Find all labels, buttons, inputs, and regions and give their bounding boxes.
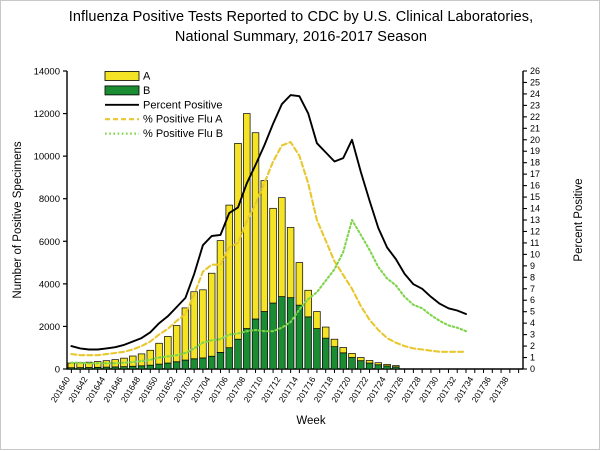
legend-swatch-a bbox=[105, 72, 139, 81]
y-tick-label-right: 8 bbox=[530, 272, 535, 282]
bar-flu-a bbox=[322, 327, 329, 338]
y-tick-label-right: 26 bbox=[530, 66, 540, 76]
chart-plot: 0200040006000800010000120001400001234567… bbox=[1, 1, 600, 451]
bar-flu-a bbox=[366, 360, 373, 363]
legend-label: % Positive Flu B bbox=[143, 128, 223, 140]
y-tick-label-right: 15 bbox=[530, 192, 540, 202]
y-tick-label-right: 12 bbox=[530, 226, 540, 236]
y-tick-label-right: 4 bbox=[530, 318, 535, 328]
y-tick-label-left: 8000 bbox=[39, 194, 60, 205]
bar-flu-a bbox=[226, 205, 233, 348]
bar-flu-a bbox=[331, 339, 338, 346]
bar-flu-a bbox=[305, 290, 312, 317]
bar-flu-b bbox=[165, 363, 172, 369]
chart-frame: Influenza Positive Tests Reported to CDC… bbox=[0, 0, 600, 450]
bar-flu-a bbox=[235, 143, 242, 339]
bar-flu-b bbox=[235, 339, 242, 369]
legend-label: A bbox=[143, 71, 151, 83]
y-tick-label-right: 25 bbox=[530, 77, 540, 87]
bar-flu-a bbox=[357, 358, 364, 361]
y-tick-label-left: 10000 bbox=[34, 152, 60, 163]
bar-flu-b bbox=[357, 361, 364, 369]
bar-flu-b bbox=[375, 365, 382, 369]
y-tick-label-right: 19 bbox=[530, 146, 540, 156]
y-tick-label-right: 6 bbox=[530, 295, 535, 305]
y-tick-label-right: 5 bbox=[530, 307, 535, 317]
y-tick-label-right: 11 bbox=[530, 238, 539, 248]
y-tick-label-right: 16 bbox=[530, 181, 540, 191]
y-tick-label-right: 14 bbox=[530, 204, 540, 214]
bar-flu-b bbox=[366, 363, 373, 369]
bar-flu-b bbox=[384, 366, 391, 369]
bar-flu-a bbox=[165, 336, 172, 363]
y-tick-label-right: 17 bbox=[530, 169, 540, 179]
bar-flu-b bbox=[173, 362, 180, 369]
y-tick-label-left: 0 bbox=[55, 365, 60, 376]
y-tick-label-right: 24 bbox=[530, 89, 540, 99]
bar-flu-a bbox=[375, 363, 382, 365]
y-tick-label-left: 6000 bbox=[39, 237, 60, 248]
bar-flu-b bbox=[331, 347, 338, 369]
y-axis-right-title: Percent Positive bbox=[573, 178, 585, 261]
y-tick-label-right: 22 bbox=[530, 112, 540, 122]
bar-flu-b bbox=[191, 359, 198, 369]
y-tick-label-right: 10 bbox=[530, 249, 540, 259]
bar-flu-a bbox=[208, 273, 215, 356]
legend-label: % Positive Flu A bbox=[143, 114, 223, 126]
bar-flu-b bbox=[156, 364, 163, 369]
bar-flu-b bbox=[147, 365, 154, 369]
bar-flu-a bbox=[261, 181, 268, 312]
bar-flu-b bbox=[270, 303, 277, 369]
bar-flu-b bbox=[182, 360, 189, 369]
legend-label: B bbox=[143, 85, 150, 97]
bar-flu-a bbox=[279, 198, 286, 297]
bar-flu-a bbox=[156, 343, 163, 364]
bar-flu-b bbox=[138, 366, 145, 369]
y-tick-label-left: 4000 bbox=[39, 279, 60, 290]
bar-flu-a bbox=[314, 312, 321, 329]
bar-flu-a bbox=[147, 350, 154, 365]
y-tick-label-right: 3 bbox=[530, 330, 535, 340]
bar-flu-b bbox=[226, 348, 233, 369]
y-tick-label-right: 2 bbox=[530, 341, 535, 351]
bar-flu-b bbox=[349, 358, 356, 369]
bar-flu-b bbox=[340, 353, 347, 369]
bar-flu-b bbox=[217, 352, 224, 369]
bar-flu-b bbox=[208, 356, 215, 369]
bar-flu-a bbox=[384, 364, 391, 366]
bar-flu-a bbox=[270, 208, 277, 303]
bar-flu-a bbox=[287, 227, 294, 297]
y-tick-label-right: 13 bbox=[530, 215, 540, 225]
bar-flu-b bbox=[261, 312, 268, 369]
bar-flu-a bbox=[173, 326, 180, 362]
y-tick-label-right: 7 bbox=[530, 284, 535, 294]
bar-flu-a bbox=[217, 241, 224, 353]
y-tick-label-left: 12000 bbox=[34, 109, 60, 120]
bar-flu-a bbox=[393, 366, 400, 367]
y-tick-label-right: 20 bbox=[530, 135, 540, 145]
legend-label: Percent Positive bbox=[143, 99, 222, 111]
y-tick-label-left: 2000 bbox=[39, 322, 60, 333]
line-pct-flu-a bbox=[71, 142, 466, 355]
x-axis-title: Week bbox=[296, 415, 325, 427]
bar-flu-b bbox=[322, 338, 329, 369]
bar-flu-b bbox=[279, 297, 286, 369]
bar-flu-a bbox=[349, 353, 356, 357]
y-tick-label-right: 1 bbox=[530, 353, 535, 363]
bar-flu-a bbox=[296, 263, 303, 306]
bar-flu-b bbox=[121, 367, 128, 369]
bar-flu-b bbox=[287, 298, 294, 369]
bar-flu-a bbox=[200, 290, 207, 358]
bar-flu-b bbox=[200, 358, 207, 369]
bar-flu-b bbox=[243, 329, 250, 369]
bar-flu-a bbox=[340, 348, 347, 353]
y-tick-label-left: 14000 bbox=[34, 67, 60, 78]
y-tick-label-right: 21 bbox=[530, 123, 540, 133]
bar-flu-b bbox=[314, 329, 321, 369]
bar-flu-b bbox=[252, 319, 259, 369]
bar-flu-b bbox=[305, 317, 312, 369]
y-tick-label-right: 0 bbox=[530, 364, 535, 374]
bar-flu-b bbox=[129, 366, 136, 369]
y-tick-label-right: 9 bbox=[530, 261, 535, 271]
legend-swatch-b bbox=[105, 86, 139, 95]
y-tick-label-right: 18 bbox=[530, 158, 540, 168]
bar-flu-b bbox=[296, 305, 303, 369]
y-axis-left-title: Number of Positive Specimens bbox=[12, 141, 24, 298]
y-tick-label-right: 23 bbox=[530, 100, 540, 110]
